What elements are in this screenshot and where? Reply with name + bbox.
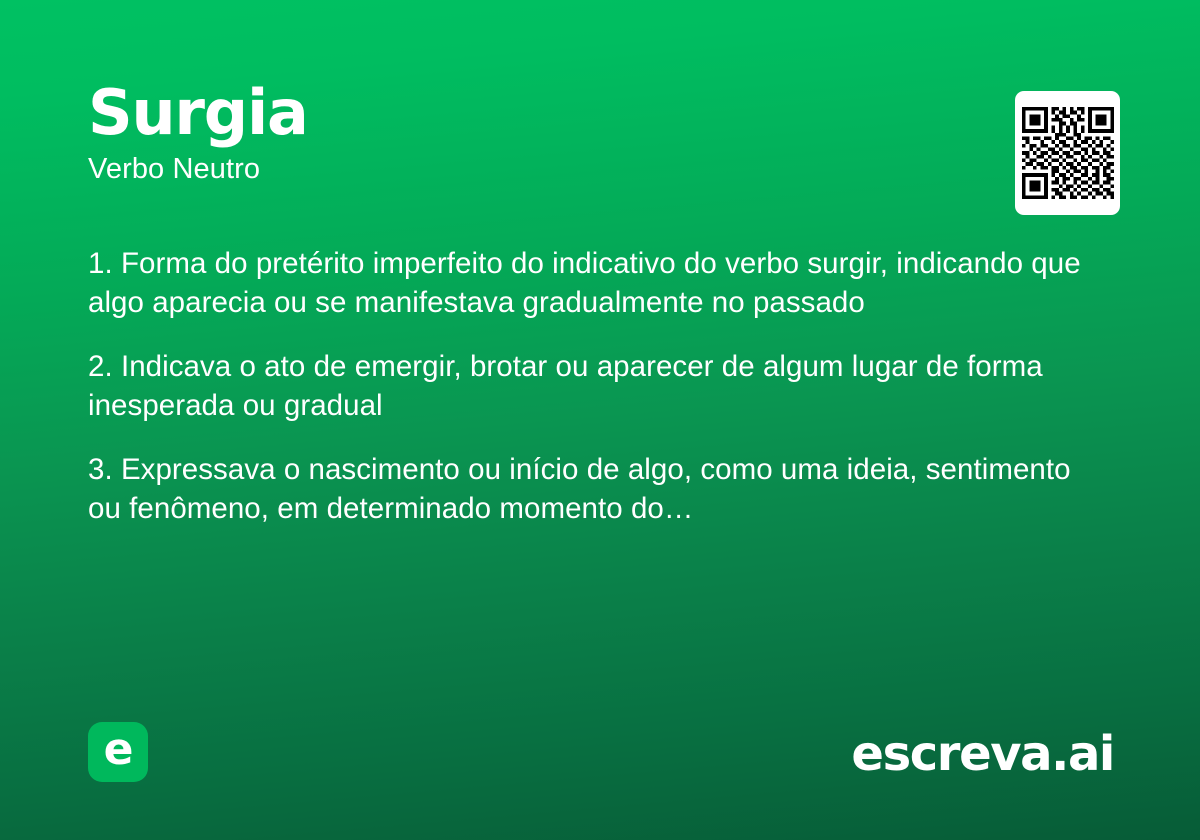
definition-list: 1. Forma do pretérito imperfeito do indi…: [88, 245, 1110, 528]
definition-item: 3. Expressava o nascimento ou início de …: [88, 451, 1110, 528]
qr-code-icon: [1022, 107, 1114, 199]
logo-letter: e: [104, 728, 133, 772]
definition-item: 2. Indicava o ato de emergir, brotar ou …: [88, 348, 1110, 425]
card-header: Surgia Verbo Neutro: [88, 82, 1112, 186]
definition-item: 1. Forma do pretérito imperfeito do indi…: [88, 245, 1110, 322]
word-definition-card: Surgia Verbo Neutro 1. Forma do pretérit…: [0, 0, 1200, 840]
word-class-label: Verbo Neutro: [88, 154, 1112, 186]
qr-code[interactable]: [1015, 91, 1120, 215]
brand-wordmark: escreva.ai: [851, 724, 1114, 784]
logo-badge[interactable]: e: [88, 722, 148, 782]
page-title: Surgia: [88, 82, 1112, 144]
